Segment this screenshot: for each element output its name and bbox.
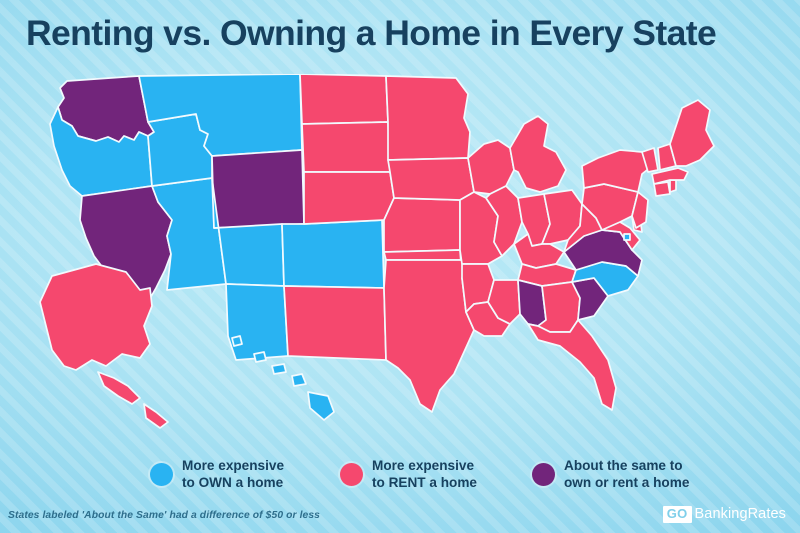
map-state-ny[interactable]: New York [582,150,652,192]
legend-label-rent: More expensive to RENT a home [372,457,477,492]
map-state-nm[interactable]: New Mexico [284,286,386,360]
legend-item-own[interactable]: More expensive to OWN a home [150,452,318,496]
map-state-ak[interactable]: Alaska [40,264,168,428]
legend-item-same[interactable]: About the same to own or rent a home [532,452,722,496]
legend-label-own: More expensive to OWN a home [182,457,284,492]
map-state-mi[interactable]: Michigan [510,116,566,192]
map-state-sd[interactable]: South Dakota [302,122,390,172]
legend-label-same: About the same to own or rent a home [564,457,689,492]
map-state-ia[interactable]: Iowa [388,158,474,200]
map-state-nd[interactable]: North Dakota [300,74,388,124]
logo-go-mark: GO [663,506,692,523]
map-state-az[interactable]: Arizona [226,284,288,360]
us-choropleth-map: WashingtonOregonCaliforniaNevadaIdahoMon… [36,74,776,442]
map-state-ri[interactable]: Rhode Island [670,180,676,192]
gobankingrates-logo[interactable]: GO BankingRates [663,506,786,523]
legend: More expensive to OWN a home More expens… [150,452,730,496]
logo-wordmark: BankingRates [695,507,786,523]
map-state-tx[interactable]: Texas [384,260,474,412]
map-svg: WashingtonOregonCaliforniaNevadaIdahoMon… [36,74,776,442]
legend-swatch-own-icon [150,463,173,486]
map-state-mn[interactable]: Minnesota [386,76,470,160]
legend-item-rent[interactable]: More expensive to RENT a home [340,452,510,496]
map-state-dc[interactable]: District of Columbia [624,234,630,240]
map-state-ga[interactable]: Georgia [538,282,580,332]
page-title: Renting vs. Owning a Home in Every State [26,10,786,58]
legend-swatch-same-icon [532,463,555,486]
map-state-wy[interactable]: Wyoming [212,150,304,228]
map-state-fl[interactable]: Florida [528,320,616,410]
map-state-co[interactable]: Colorado [282,220,384,288]
footnote: States labeled 'About the Same' had a di… [8,510,320,521]
legend-swatch-rent-icon [340,463,363,486]
map-state-me[interactable]: Maine [670,100,714,166]
map-state-ne[interactable]: Nebraska [304,172,394,224]
map-state-ks[interactable]: Kansas [384,198,460,252]
